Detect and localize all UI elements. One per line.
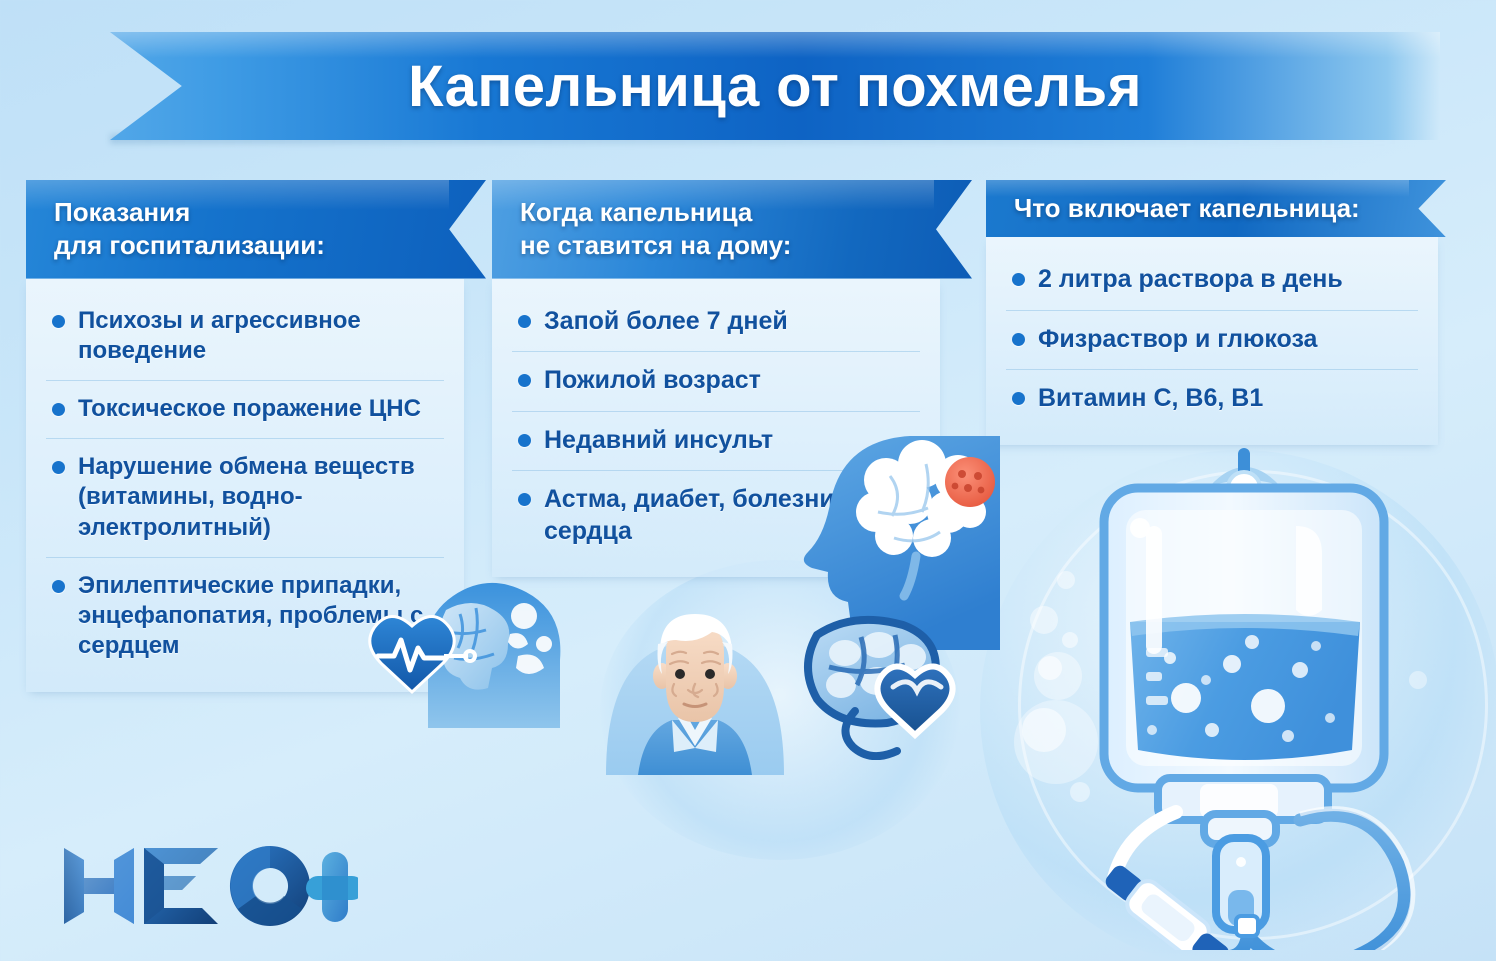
page-title: Капельница от похмелья: [408, 53, 1142, 120]
section-contraindications: Когда капельница не ставится на дому: За…: [492, 180, 972, 577]
section-body-contraindications: Запой более 7 дней Пожилой возраст Недав…: [492, 279, 940, 578]
list-item-label: Физраствор и глюкоза: [1038, 324, 1317, 356]
header-line-1: Когда капельница: [520, 196, 946, 229]
list-item-label: Эпилептические припадки, энцефапопатия, …: [78, 571, 440, 662]
list-item-label: Психозы и агрессивное поведение: [78, 306, 440, 366]
list-item: Токсическое поражение ЦНС: [46, 380, 444, 438]
list-item: Пожилой возраст: [512, 351, 920, 411]
list-item-label: Токсическое поражение ЦНС: [78, 394, 421, 424]
list-item: Физраствор и глюкоза: [1006, 310, 1418, 370]
iv-drip-bag-with-tube-icon: [1000, 430, 1490, 950]
bullet-icon: [518, 434, 531, 447]
bullet-icon: [52, 315, 65, 328]
section-header-indications: Показания для госпитализации:: [26, 180, 486, 279]
list-item: Недавний инсульт: [512, 411, 920, 471]
header-line-1: Что включает капельница:: [1014, 192, 1420, 225]
list-item: Нарушение обмена веществ (витамины, водн…: [46, 438, 444, 557]
header-line-2: не ставится на дому:: [520, 229, 946, 262]
background-blob-middle: [600, 560, 960, 860]
brain-with-stethoscope-and-heart-icon: [795, 615, 985, 760]
list-item-label: Нарушение обмена веществ (витамины, водн…: [78, 452, 440, 543]
title-banner: Капельница от похмелья: [110, 32, 1440, 140]
list-item: Психозы и агрессивное поведение: [46, 293, 444, 380]
bullet-icon: [52, 461, 65, 474]
background-ring: [1018, 470, 1488, 940]
section-contents: Что включает капельница: 2 литра раствор…: [986, 180, 1446, 445]
section-header-contraindications: Когда капельница не ставится на дому:: [492, 180, 972, 279]
section-header-contents: Что включает капельница:: [986, 180, 1446, 237]
bullet-icon: [52, 403, 65, 416]
list-item-label: Астма, диабет, болезни сердца: [544, 484, 916, 547]
list-item-label: Недавний инсульт: [544, 425, 773, 457]
list-item-label: 2 литра раствора в день: [1038, 264, 1343, 296]
section-indications: Показания для госпитализации: Психозы и …: [26, 180, 486, 692]
list-item-label: Пожилой возраст: [544, 365, 761, 397]
bullet-icon: [1012, 333, 1025, 346]
header-line-1: Показания: [54, 196, 460, 229]
list-item: Астма, диабет, болезни сердца: [512, 470, 920, 561]
list-item: 2 литра раствора в день: [1006, 251, 1418, 310]
bullet-icon: [518, 374, 531, 387]
bullet-icon: [1012, 392, 1025, 405]
header-line-2: для госпитализации:: [54, 229, 460, 262]
bullet-icon: [518, 493, 531, 506]
list-item: Эпилептические припадки, энцефапопатия, …: [46, 557, 444, 676]
list-item: Витамин С, В6, В1: [1006, 369, 1418, 429]
list-item-label: Витамин С, В6, В1: [1038, 383, 1263, 415]
section-body-indications: Психозы и агрессивное поведение Токсичес…: [26, 279, 464, 692]
elderly-man-portrait-icon: [600, 600, 790, 775]
list-item-label: Запой более 7 дней: [544, 306, 788, 338]
list-item: Запой более 7 дней: [512, 293, 920, 352]
bullet-icon: [52, 580, 65, 593]
bullet-icon: [518, 315, 531, 328]
section-body-contents: 2 литра раствора в день Физраствор и глю…: [986, 237, 1438, 445]
logo-neo-plus: НЕО+: [58, 838, 358, 934]
bullet-icon: [1012, 273, 1025, 286]
background-blob-right: [980, 450, 1496, 961]
